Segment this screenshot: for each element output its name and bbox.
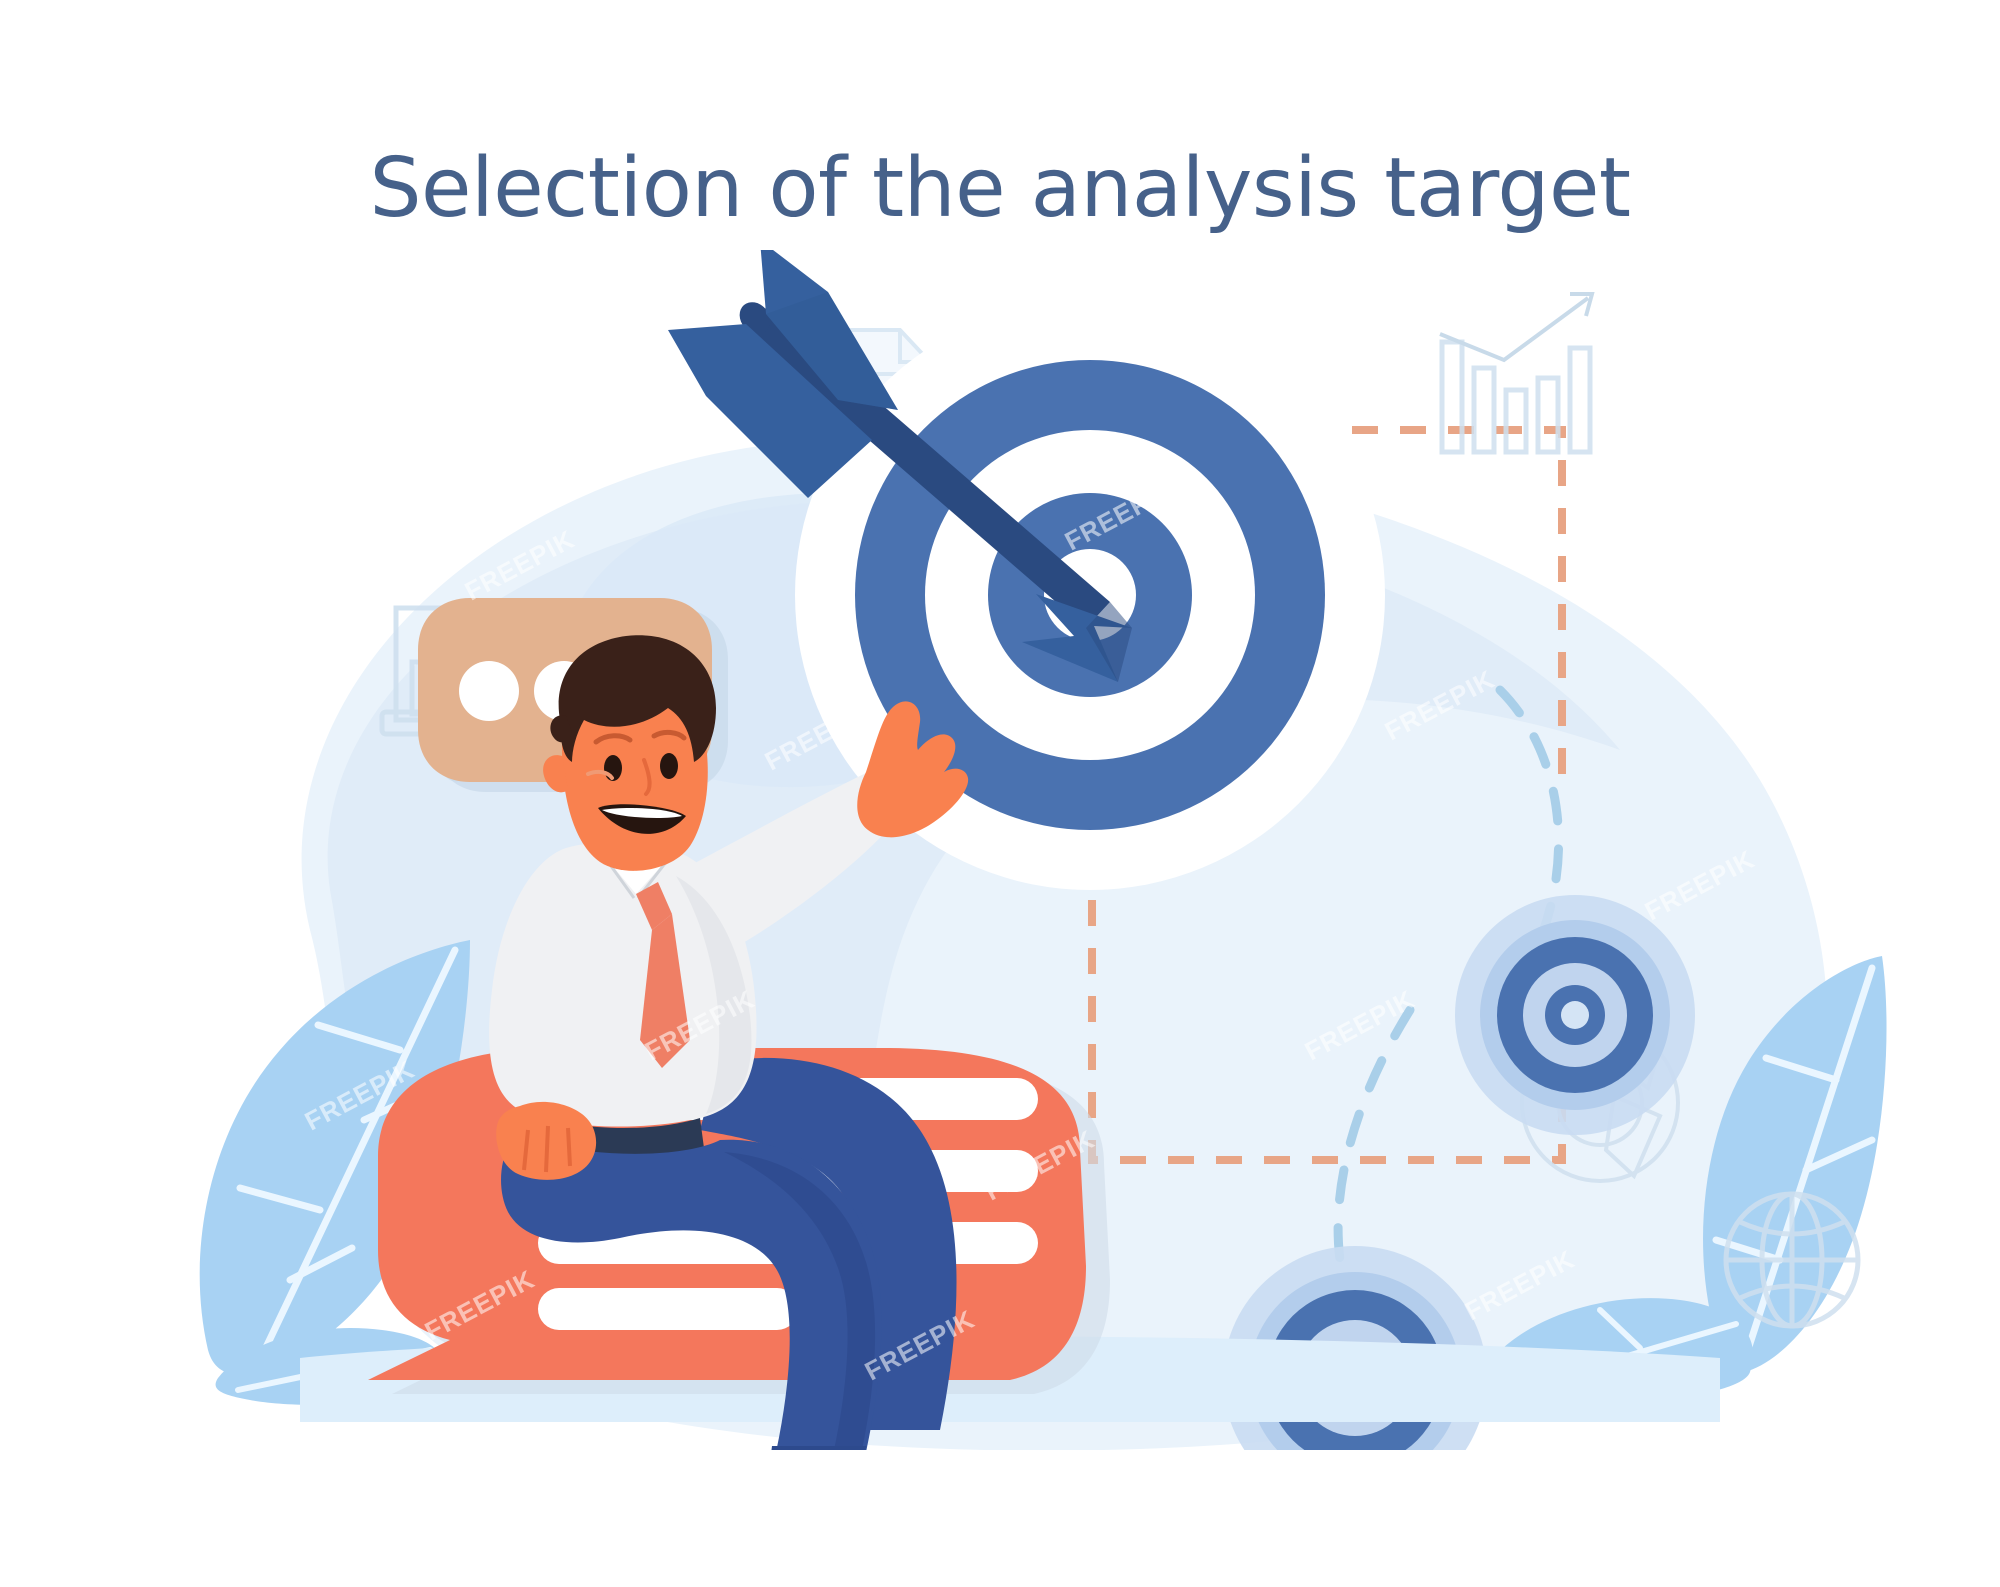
main-illustration: FREEPIK FREEPIK FREEPIK FREEPIK FREEPIK … bbox=[0, 250, 2000, 1450]
illustration-page: Selection of the analysis target bbox=[0, 0, 2000, 1587]
globe-icon bbox=[1726, 1194, 1858, 1326]
typing-dot-1 bbox=[459, 661, 519, 721]
eye-right bbox=[660, 753, 678, 779]
secondary-target-upper bbox=[1455, 895, 1695, 1135]
bubble-line-4 bbox=[538, 1288, 798, 1330]
hand-resting bbox=[496, 1102, 596, 1180]
trouser-cuff bbox=[768, 1446, 866, 1450]
page-title: Selection of the analysis target bbox=[0, 148, 2000, 230]
